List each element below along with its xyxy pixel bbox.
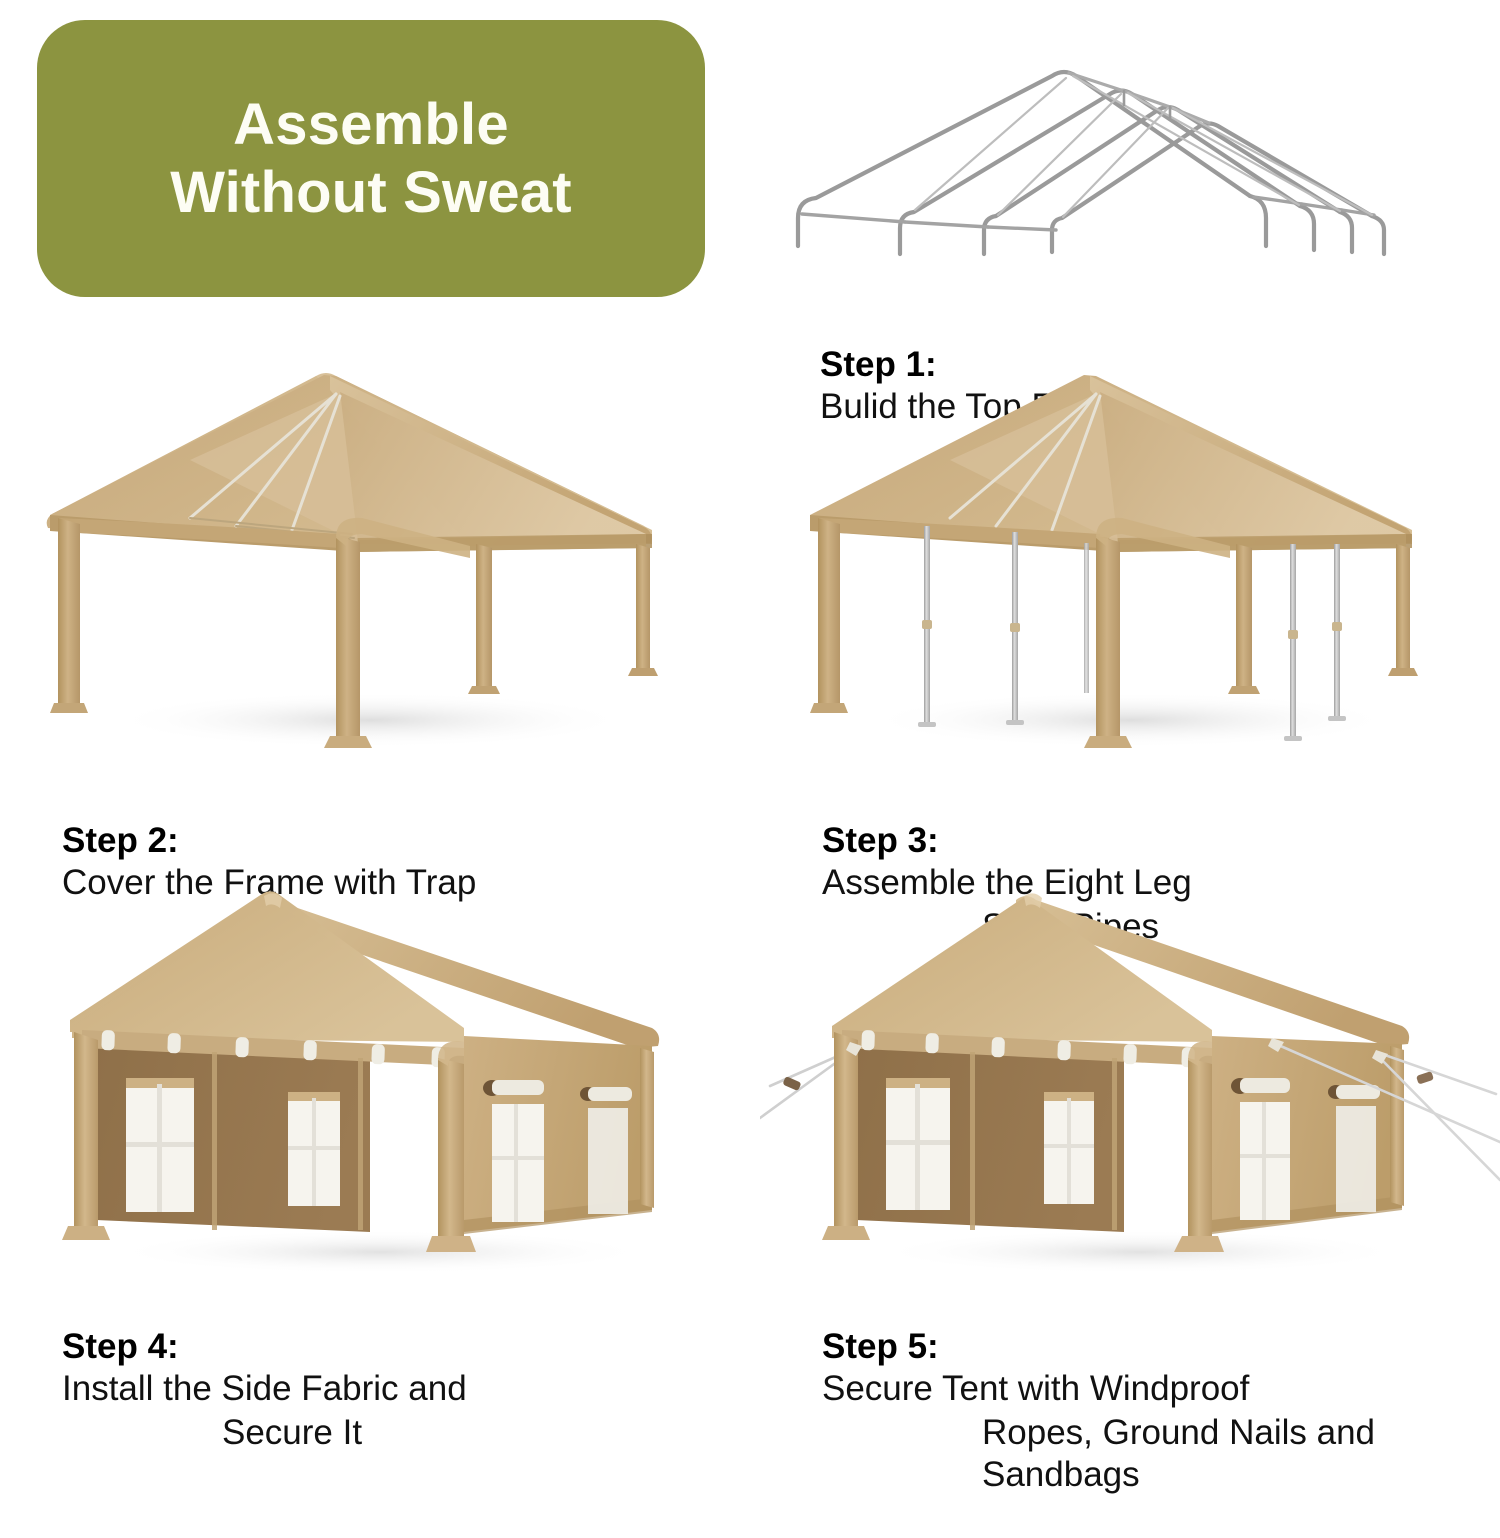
window-front-1-s5 bbox=[886, 1078, 950, 1210]
top-frame-svg bbox=[780, 18, 1480, 268]
ground-stake-right bbox=[1416, 1071, 1434, 1085]
step-4-text-line2: Secure It bbox=[62, 1412, 740, 1454]
canopy-legs-svg bbox=[800, 368, 1490, 768]
canopy-tarp-svg bbox=[40, 368, 740, 768]
step-4-caption: Step 4: Install the Side Fabric and Secu… bbox=[62, 1284, 740, 1496]
step-panel-5: Step 5: Secure Tent with Windproof Ropes… bbox=[760, 880, 1500, 1538]
headline-line-1: Assemble bbox=[233, 91, 509, 158]
tent-guy-ropes-svg bbox=[760, 880, 1500, 1278]
window-front-2-s5 bbox=[1044, 1092, 1094, 1204]
headline-line-2: Without Sweat bbox=[170, 159, 572, 226]
ground-stake-left bbox=[782, 1076, 801, 1091]
step-4-text: Install the Side Fabric and bbox=[62, 1369, 467, 1408]
enclosed-tent-svg bbox=[40, 880, 740, 1278]
illustration-enclosed-tent bbox=[40, 880, 740, 1278]
illustration-canopy-legs bbox=[800, 368, 1490, 768]
window-front-1 bbox=[126, 1078, 194, 1212]
step-panel-1: Step 1: Bulid the Top Frame bbox=[780, 18, 1480, 428]
illustration-top-frame bbox=[780, 18, 1480, 268]
illustration-tent-guy-ropes bbox=[760, 880, 1500, 1278]
headline-badge: Assemble Without Sweat bbox=[37, 20, 705, 297]
step-3-label: Step 3: bbox=[822, 821, 939, 860]
step-5-text: Secure Tent with Windproof bbox=[822, 1369, 1249, 1408]
window-side-1-s5 bbox=[1240, 1102, 1290, 1220]
step-2-label: Step 2: bbox=[62, 821, 179, 860]
window-side-1 bbox=[492, 1104, 544, 1222]
step-5-caption: Step 5: Secure Tent with Windproof Ropes… bbox=[822, 1284, 1500, 1538]
step-4-label: Step 4: bbox=[62, 1327, 179, 1366]
step-5-text-line2: Ropes, Ground Nails and Sandbags bbox=[822, 1412, 1500, 1496]
window-side-2 bbox=[588, 1108, 628, 1214]
step-panel-4: Step 4: Install the Side Fabric and Secu… bbox=[40, 880, 740, 1496]
step-5-label: Step 5: bbox=[822, 1327, 939, 1366]
step-panel-2: Step 2: Cover the Frame with Trap bbox=[40, 368, 740, 904]
window-side-2-s5 bbox=[1336, 1106, 1376, 1212]
window-front-2 bbox=[288, 1092, 340, 1206]
illustration-canopy-tarp bbox=[40, 368, 740, 768]
